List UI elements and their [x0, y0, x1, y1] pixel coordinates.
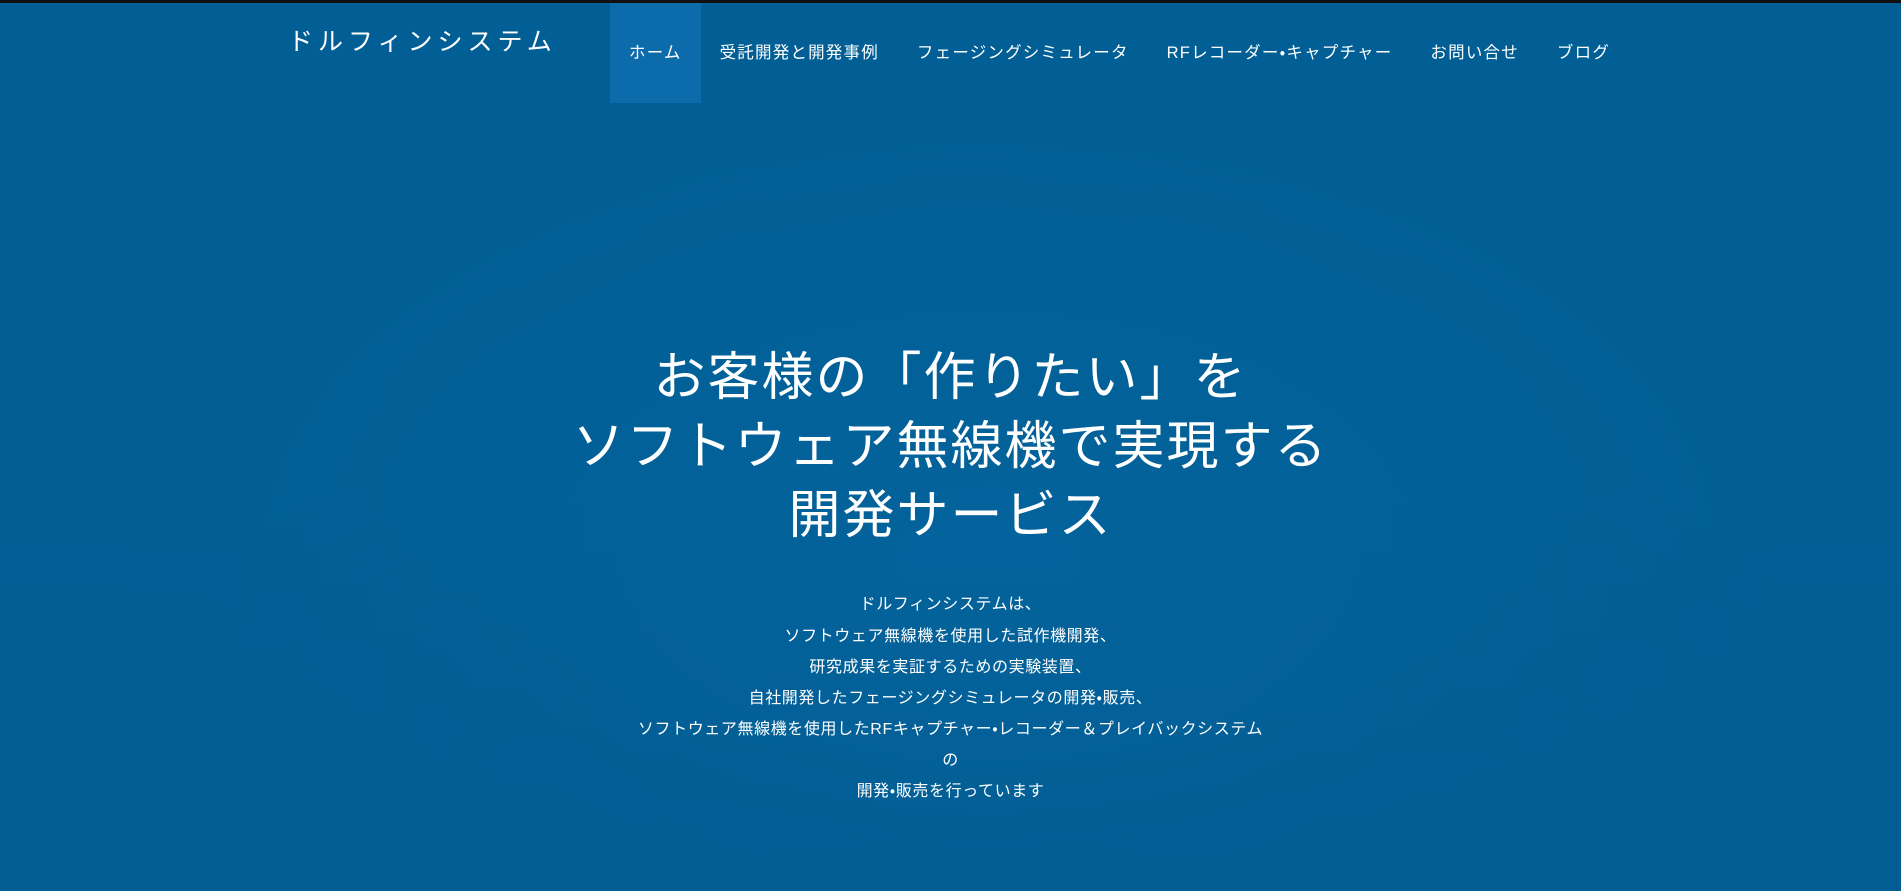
nav-item-blog[interactable]: ブログ [1538, 3, 1629, 103]
hero-description: ドルフィンシステムは、 ソフトウェア無線機を使用した試作機開発、 研究成果を実証… [638, 589, 1263, 806]
site-header: ドルフィンシステム ホーム 受託開発と開発事例 フェージングシミュレータ RFレ… [0, 3, 1901, 103]
nav-item-home[interactable]: ホーム [610, 3, 701, 103]
nav-item-contract-development[interactable]: 受託開発と開発事例 [701, 3, 898, 103]
nav-item-rf-recorder-capture[interactable]: RFレコーダー・キャプチャー [1148, 3, 1412, 103]
top-accent-strip [0, 0, 1901, 3]
site-brand-logo[interactable]: ドルフィンシステム [288, 30, 557, 55]
nav-item-contact[interactable]: お問い合せ [1411, 3, 1538, 103]
hero-headline: お客様の「作りたい」を ソフトウェア無線機で実現する 開発サービス [572, 344, 1328, 551]
hero-section: お客様の「作りたい」を ソフトウェア無線機で実現する 開発サービス ドルフィンシ… [0, 3, 1901, 891]
nav-item-fading-simulator[interactable]: フェージングシミュレータ [898, 3, 1148, 103]
main-navigation: ホーム 受託開発と開発事例 フェージングシミュレータ RFレコーダー・キャプチャ… [610, 3, 1629, 103]
